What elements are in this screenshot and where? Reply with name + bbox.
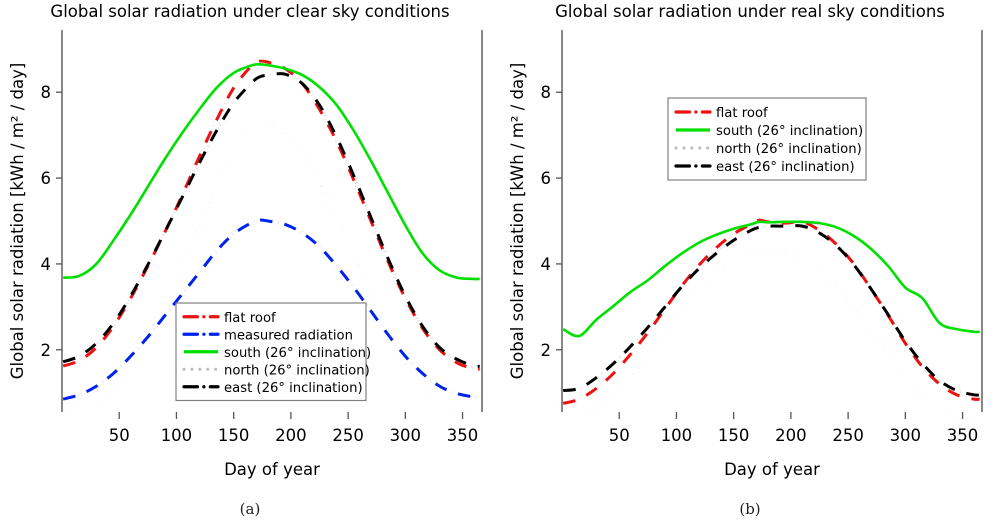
figure-root: Global solar radiation under clear sky c…: [0, 0, 1000, 527]
x-tick-label: 50: [109, 426, 130, 445]
x-tick-label: 200: [275, 426, 307, 445]
x-tick-label: 150: [718, 426, 750, 445]
x-tick-label: 350: [947, 426, 979, 445]
x-tick-label: 250: [332, 426, 364, 445]
legend-label: measured radiation: [224, 328, 353, 343]
legend-label: east (26° inclination): [716, 160, 855, 175]
x-tick-label: 250: [832, 426, 864, 445]
panel-b: Global solar radiation under real sky co…: [500, 0, 1000, 527]
series-line: [563, 252, 980, 421]
series-line: [563, 220, 980, 403]
legend-label: east (26° inclination): [224, 381, 363, 396]
legend-label: north (26° inclination): [224, 363, 370, 378]
chart-title-b: Global solar radiation under real sky co…: [500, 2, 1000, 21]
x-tick-label: 300: [890, 426, 922, 445]
y-tick-label: 6: [541, 169, 552, 188]
legend-label: flat roof: [224, 311, 276, 326]
chart-title-a: Global solar radiation under clear sky c…: [0, 2, 500, 21]
x-tick-label: 350: [447, 426, 479, 445]
y-axis-label: Global solar radiation [kWh / m² / day]: [508, 63, 527, 380]
legend-label: south (26° inclination): [224, 346, 371, 361]
panel-a: Global solar radiation under clear sky c…: [0, 0, 500, 527]
y-tick-label: 8: [41, 83, 52, 102]
x-tick-label: 200: [775, 426, 807, 445]
y-tick-label: 4: [41, 255, 52, 274]
legend-label: north (26° inclination): [716, 142, 862, 157]
series-line: [63, 64, 480, 279]
y-tick-label: 4: [541, 255, 552, 274]
x-tick-label: 50: [609, 426, 630, 445]
y-axis-label: Global solar radiation [kWh / m² / day]: [8, 63, 27, 380]
legend-label: flat roof: [716, 106, 768, 121]
y-tick-label: 2: [541, 341, 552, 360]
x-tick-label: 100: [661, 426, 693, 445]
x-tick-label: 100: [161, 426, 193, 445]
plot-area-b: 246850100150200250300350Day of yearGloba…: [500, 0, 1000, 500]
x-tick-label: 300: [390, 426, 422, 445]
x-axis-label: Day of year: [224, 460, 320, 479]
subcaption-b: (b): [700, 500, 800, 518]
y-tick-label: 6: [41, 169, 52, 188]
y-tick-label: 8: [541, 83, 552, 102]
series-line: [563, 222, 980, 337]
series-line: [563, 226, 980, 396]
x-axis-label: Day of year: [724, 460, 820, 479]
plot-area-a: 246850100150200250300350Day of yearGloba…: [0, 0, 500, 500]
subcaption-a: (a): [200, 500, 300, 518]
x-tick-label: 150: [218, 426, 250, 445]
y-tick-label: 2: [41, 341, 52, 360]
legend-label: south (26° inclination): [716, 124, 863, 139]
